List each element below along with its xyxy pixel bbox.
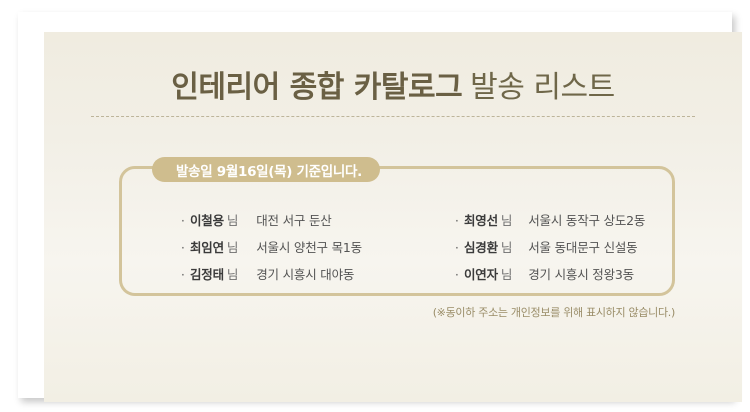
bullet-icon: · [181, 215, 190, 227]
outer-card-frame: 인테리어 종합 카탈로그발송 리스트 발송일 9월16일(목) 기준입니다. ·… [18, 12, 732, 398]
card-content-area: 인테리어 종합 카탈로그발송 리스트 발송일 9월16일(목) 기준입니다. ·… [44, 32, 742, 402]
bullet-icon: · [181, 242, 190, 254]
recipient-columns: · 이철용 님 대전 서구 둔산 · 최임연 님 서울시 양천구 목1동 · 김… [119, 192, 675, 296]
privacy-footnote: (※동이하 주소는 개인정보를 위해 표시하지 않습니다.) [44, 304, 675, 320]
list-item: · 김정태 님 경기 시흥시 대야동 [181, 264, 397, 291]
title-divider [91, 116, 695, 117]
page-title: 인테리어 종합 카탈로그발송 리스트 [44, 62, 742, 106]
recipient-name: 김정태 [190, 264, 224, 283]
recipient-honorific: 님 [501, 237, 512, 256]
recipient-name: 이철용 [190, 210, 224, 229]
recipient-name: 최임연 [190, 237, 224, 256]
bullet-icon: · [455, 242, 464, 254]
page-title-strong: 인테리어 종합 카탈로그 [171, 70, 462, 105]
recipient-address: 대전 서구 둔산 [256, 210, 331, 229]
list-item: · 최임연 님 서울시 양천구 목1동 [181, 237, 397, 264]
recipient-honorific: 님 [227, 264, 238, 283]
shipping-date-label: 발송일 9월16일(목) 기준입니다. [176, 160, 362, 180]
recipient-address: 경기 시흥시 정왕3동 [528, 264, 634, 283]
recipient-address: 경기 시흥시 대야동 [256, 264, 354, 283]
list-item: · 이철용 님 대전 서구 둔산 [181, 210, 397, 237]
recipient-name: 이연자 [464, 264, 498, 283]
recipient-name: 최영선 [464, 210, 498, 229]
recipient-honorific: 님 [227, 210, 238, 229]
recipient-address: 서울시 양천구 목1동 [256, 237, 362, 256]
recipient-honorific: 님 [501, 264, 512, 283]
recipient-column-right: · 최영선 님 서울시 동작구 상도2동 · 심경환 님 서울 동대문구 신설동… [397, 192, 675, 296]
recipient-honorific: 님 [227, 237, 238, 256]
recipient-column-left: · 이철용 님 대전 서구 둔산 · 최임연 님 서울시 양천구 목1동 · 김… [119, 192, 397, 296]
bullet-icon: · [455, 215, 464, 227]
recipient-honorific: 님 [501, 210, 512, 229]
bullet-icon: · [455, 269, 464, 281]
recipient-address: 서울 동대문구 신설동 [528, 237, 637, 256]
page-title-light: 발송 리스트 [470, 70, 615, 105]
recipient-name: 심경환 [464, 237, 498, 256]
list-item: · 최영선 님 서울시 동작구 상도2동 [455, 210, 675, 237]
shipping-date-ribbon: 발송일 9월16일(목) 기준입니다. [152, 157, 380, 182]
list-item: · 심경환 님 서울 동대문구 신설동 [455, 237, 675, 264]
bullet-icon: · [181, 269, 190, 281]
recipient-address: 서울시 동작구 상도2동 [528, 210, 645, 229]
list-item: · 이연자 님 경기 시흥시 정왕3동 [455, 264, 675, 291]
